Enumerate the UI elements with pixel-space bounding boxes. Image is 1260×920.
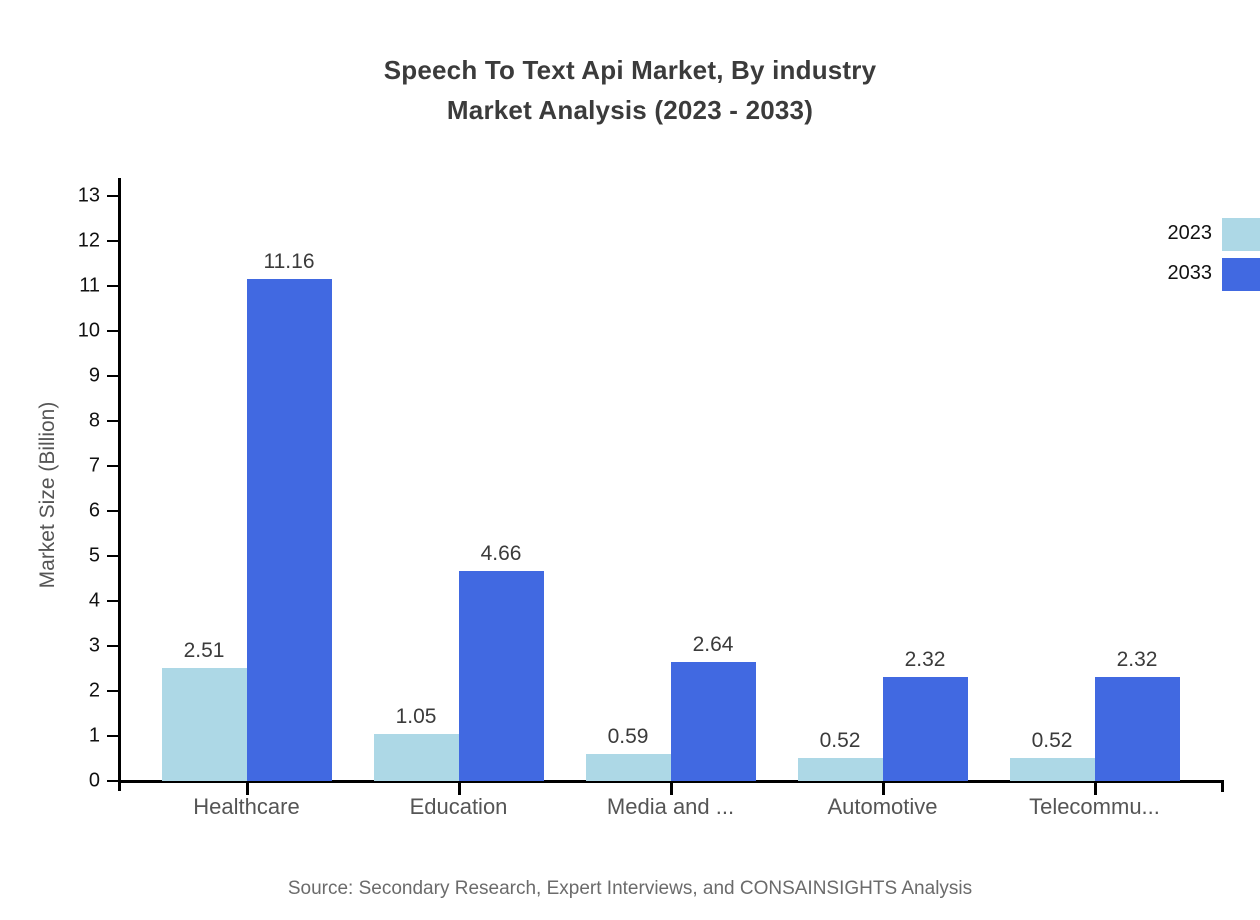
y-axis-tick-label: 8 <box>0 410 100 433</box>
bar-2033-0[interactable] <box>247 279 332 781</box>
y-axis-tick-label: 4 <box>0 590 100 613</box>
bar-value-label: 2.32 <box>1067 648 1207 672</box>
bar-2033-4[interactable] <box>1095 677 1180 781</box>
y-axis-tick <box>107 240 121 242</box>
y-axis-tick-label: 10 <box>0 320 100 343</box>
y-axis-tick-label: 12 <box>0 230 100 253</box>
y-axis-tick-label: 6 <box>0 500 100 523</box>
y-axis-tick <box>107 645 121 647</box>
x-axis-category-label: Healthcare <box>137 794 357 820</box>
y-axis-tick <box>107 420 121 422</box>
y-axis-tick <box>107 600 121 602</box>
bar-value-label: 2.32 <box>855 648 995 672</box>
y-axis-tick-label: 1 <box>0 725 100 748</box>
y-axis-tick-label: 11 <box>0 275 100 298</box>
x-axis-category-label: Media and ... <box>561 794 781 820</box>
y-axis-tick-label: 5 <box>0 545 100 568</box>
y-axis-tick-label: 0 <box>0 770 100 793</box>
y-axis-tick <box>107 690 121 692</box>
bar-2033-3[interactable] <box>883 677 968 781</box>
bar-2023-1[interactable] <box>374 734 459 781</box>
bar-value-label: 2.64 <box>643 633 783 657</box>
bar-2023-0[interactable] <box>162 668 247 781</box>
x-axis-category-label: Education <box>349 794 569 820</box>
y-axis-tick <box>107 555 121 557</box>
legend-label: 2023 <box>1092 215 1212 251</box>
chart-title-line-2: Market Analysis (2023 - 2033) <box>0 90 1260 130</box>
legend-swatch <box>1222 218 1260 251</box>
y-axis-tick <box>107 780 121 782</box>
page-title: Speech To Text Api Market, By industry M… <box>0 50 1260 130</box>
y-axis-tick-label: 7 <box>0 455 100 478</box>
x-axis-right-cap <box>1221 780 1224 792</box>
y-axis-tick <box>107 330 121 332</box>
x-axis-category-label: Automotive <box>773 794 993 820</box>
legend-swatch <box>1222 258 1260 291</box>
y-axis-tick <box>107 510 121 512</box>
bar-value-label: 11.16 <box>219 250 359 274</box>
y-axis-spine <box>118 178 121 791</box>
bar-2033-1[interactable] <box>459 571 544 781</box>
bar-2023-3[interactable] <box>798 758 883 781</box>
legend-item-2023[interactable]: 2023 <box>1100 215 1260 251</box>
y-axis-tick-label: 9 <box>0 365 100 388</box>
y-axis-tick <box>107 735 121 737</box>
y-axis-tick <box>107 465 121 467</box>
bar-2033-2[interactable] <box>671 662 756 781</box>
bar-2023-2[interactable] <box>586 754 671 781</box>
y-axis-tick <box>107 375 121 377</box>
x-axis-category-label: Telecommu... <box>985 794 1205 820</box>
y-axis-tick-label: 2 <box>0 680 100 703</box>
bar-2023-4[interactable] <box>1010 758 1095 781</box>
y-axis-tick-label: 13 <box>0 185 100 208</box>
bar-chart: Speech To Text Api Market, By industry M… <box>0 0 1260 920</box>
chart-title-line-1: Speech To Text Api Market, By industry <box>0 50 1260 90</box>
source-note: Source: Secondary Research, Expert Inter… <box>0 878 1260 900</box>
y-axis-tick-label: 3 <box>0 635 100 658</box>
legend-item-2033[interactable]: 2033 <box>1100 255 1260 291</box>
y-axis-tick <box>107 195 121 197</box>
y-axis-tick <box>107 285 121 287</box>
bar-value-label: 4.66 <box>431 542 571 566</box>
legend-label: 2033 <box>1092 255 1212 291</box>
